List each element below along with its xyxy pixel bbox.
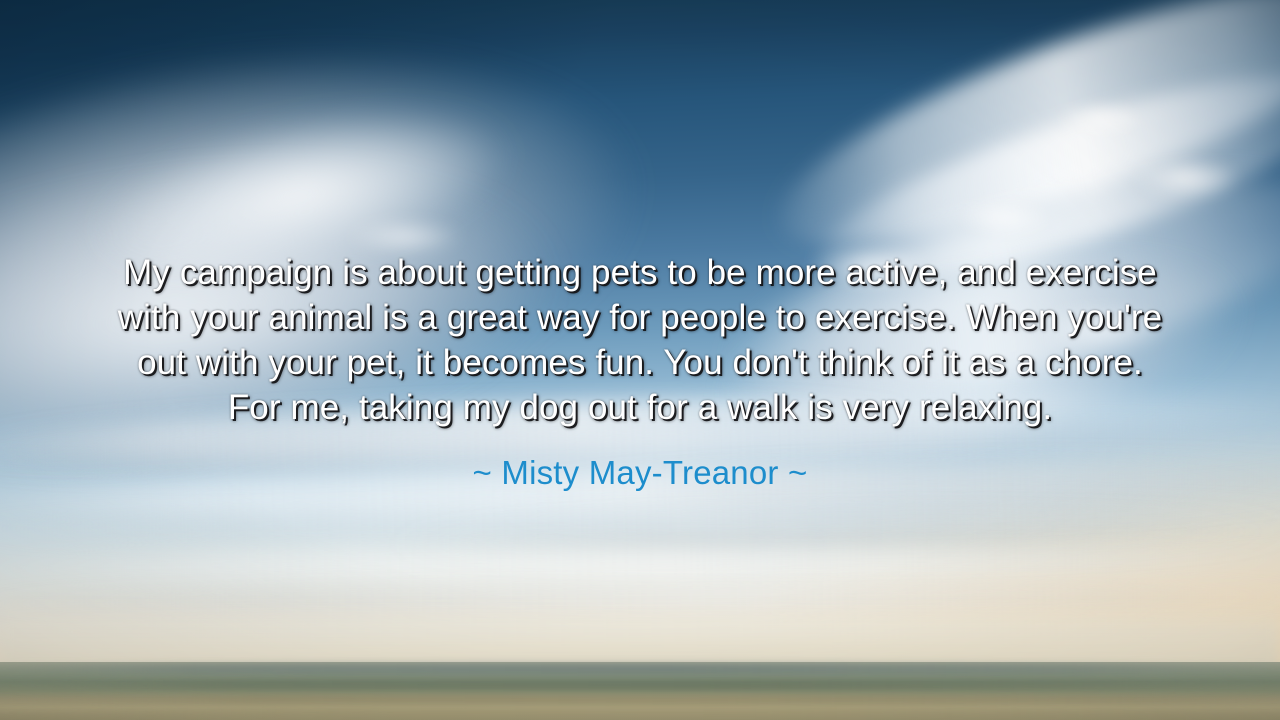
quote-image: My campaign is about getting pets to be … — [0, 0, 1280, 720]
quote-attribution: ~ Misty May-Treanor ~ — [473, 453, 808, 493]
quote-text: My campaign is about getting pets to be … — [110, 250, 1170, 430]
text-overlay: My campaign is about getting pets to be … — [0, 0, 1280, 720]
